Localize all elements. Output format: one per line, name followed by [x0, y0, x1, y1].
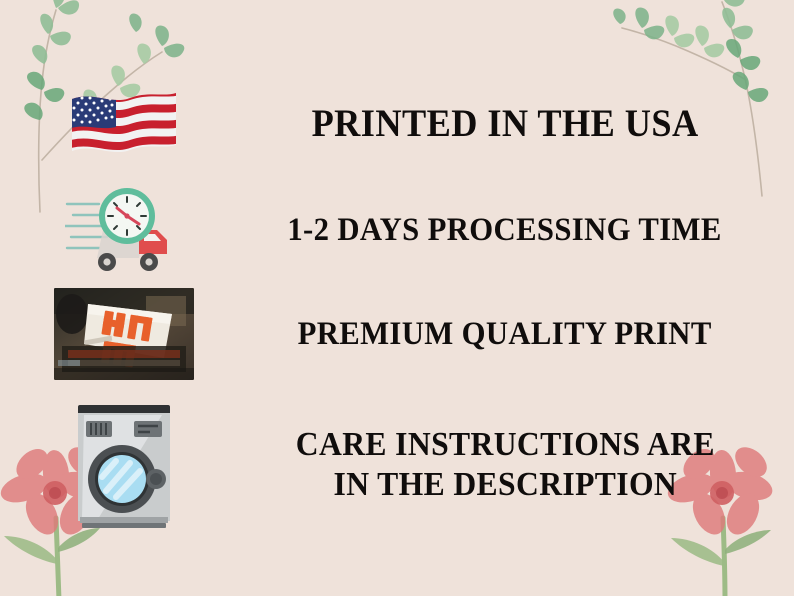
feature-headline-3: PREMIUM QUALITY PRINT — [298, 315, 712, 354]
feature-headline-1: PRINTED IN THE USA — [311, 101, 698, 147]
us-flag-icon — [68, 87, 180, 161]
feature-row-care-instructions: CARE INSTRUCTIONS ARE IN THE DESCRIPTION — [0, 390, 794, 540]
clock-face-icon — [99, 188, 155, 244]
text-cell-3: PREMIUM QUALITY PRINT — [248, 315, 794, 354]
fast-delivery-clock-truck-icon — [65, 182, 183, 278]
text-cell-4: CARE INSTRUCTIONS ARE IN THE DESCRIPTION — [248, 425, 794, 505]
washing-machine-icon — [68, 397, 180, 533]
icon-cell-1 — [0, 87, 248, 161]
icon-cell-4 — [0, 397, 248, 533]
text-cell-1: PRINTED IN THE USA — [248, 101, 794, 147]
feature-row-quality-print: PREMIUM QUALITY PRINT — [0, 286, 794, 382]
icon-cell-3 — [0, 288, 248, 380]
screen-printing-photo-icon — [54, 288, 194, 380]
feature-row-processing-time: 1-2 DAYS PROCESSING TIME — [0, 182, 794, 278]
feature-row-printed-in-usa: PRINTED IN THE USA — [0, 78, 794, 170]
feature-headline-4: CARE INSTRUCTIONS ARE IN THE DESCRIPTION — [295, 425, 714, 505]
feature-headline-4-line-2: IN THE DESCRIPTION — [295, 465, 714, 505]
text-cell-2: 1-2 DAYS PROCESSING TIME — [248, 211, 794, 250]
promo-card: PRINTED IN THE USA — [0, 0, 794, 596]
feature-headline-2: 1-2 DAYS PROCESSING TIME — [288, 211, 722, 250]
icon-cell-2 — [0, 182, 248, 278]
feature-headline-4-line-1: CARE INSTRUCTIONS ARE — [295, 425, 714, 465]
